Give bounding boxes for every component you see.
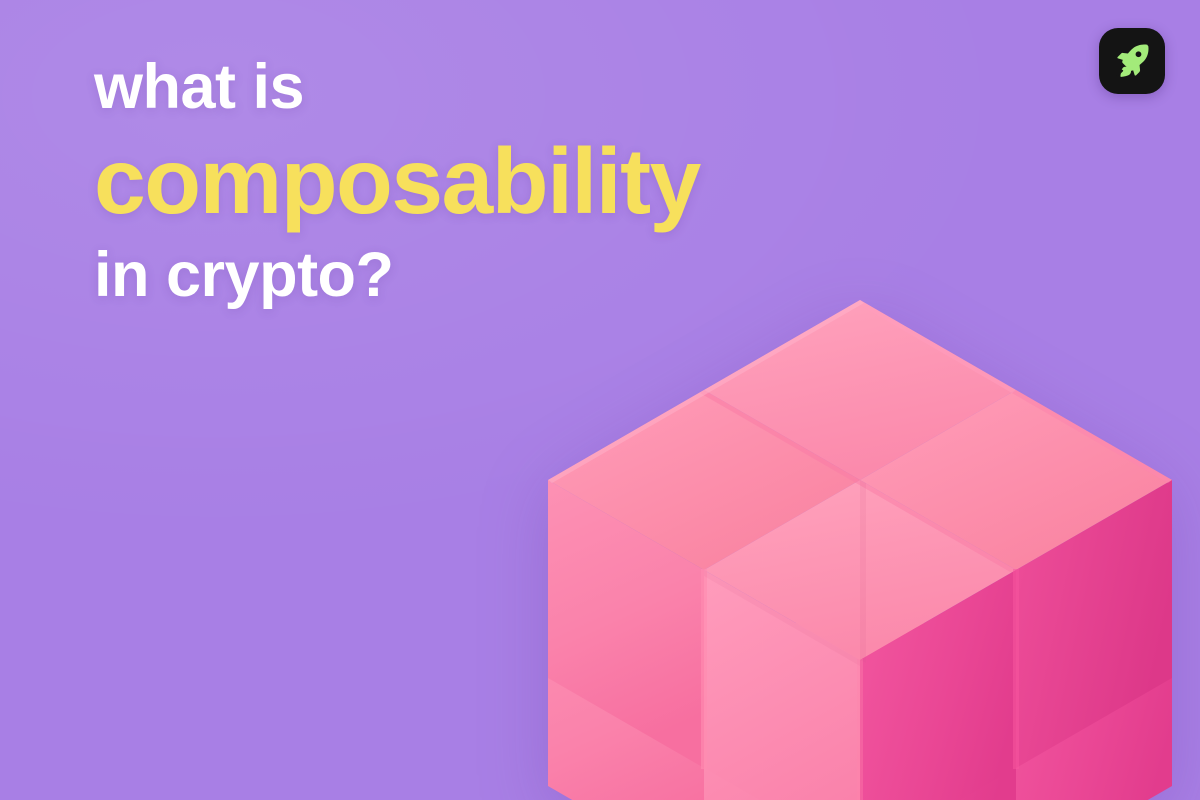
rocket-icon bbox=[1111, 40, 1153, 82]
headline-block: what is composability in crypto? bbox=[94, 56, 700, 307]
headline-line-2-accent: composability bbox=[94, 135, 700, 228]
headline-line-1: what is bbox=[94, 56, 700, 119]
headline-line-3: in crypto? bbox=[94, 244, 700, 307]
promo-card: what is composability in crypto? bbox=[0, 0, 1200, 800]
logo-badge[interactable] bbox=[1099, 28, 1165, 94]
